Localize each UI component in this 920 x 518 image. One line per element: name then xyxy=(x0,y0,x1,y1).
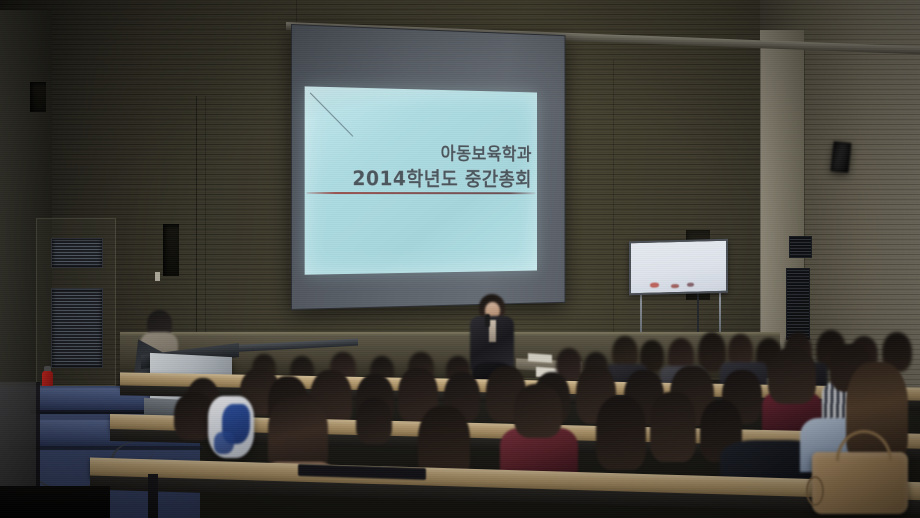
wall-switch-plate xyxy=(155,272,160,281)
wall-recess xyxy=(30,82,46,112)
paper-sheet xyxy=(528,353,552,363)
wall-seam xyxy=(805,206,920,207)
presenter-shirt xyxy=(489,320,496,342)
air-vent-icon xyxy=(786,268,810,340)
wall-seam xyxy=(120,266,300,267)
audience-head-foreground xyxy=(596,396,646,470)
backpack-blue-panel xyxy=(214,432,234,454)
microphone-icon xyxy=(485,314,490,327)
air-vent-icon xyxy=(51,288,103,368)
wall-seam xyxy=(120,186,300,187)
desk-divider xyxy=(148,474,158,518)
foreground-shadow xyxy=(0,486,110,518)
handbag-buckle xyxy=(806,476,824,506)
lecture-hall-photo: 아동보육학과 2014학년도 중간총회 xyxy=(0,0,920,518)
wall-seam xyxy=(620,120,770,121)
audience-head xyxy=(768,348,816,404)
audience-head-foreground xyxy=(650,392,696,462)
whiteboard-mark xyxy=(687,283,694,287)
whiteboard-mark xyxy=(671,284,679,288)
wall-seam xyxy=(613,60,614,360)
whiteboard-mark xyxy=(650,283,659,288)
wall-seam xyxy=(760,40,761,380)
wall-recess xyxy=(163,224,179,276)
air-vent-icon xyxy=(789,236,812,258)
whiteboard xyxy=(629,239,728,296)
audience-head xyxy=(356,398,392,444)
air-vent-icon xyxy=(51,238,103,268)
projection-screen: 아동보육학과 2014학년도 중간총회 xyxy=(291,24,565,310)
wall-seam xyxy=(805,148,920,149)
slide-title-line2: 2014학년도 중간총회 xyxy=(305,162,532,191)
projected-slide: 아동보육학과 2014학년도 중간총회 xyxy=(305,86,537,274)
wall-seam xyxy=(805,312,920,313)
wall-speaker-icon xyxy=(830,141,851,173)
handbag xyxy=(812,452,908,514)
slide-divider-rule xyxy=(307,192,536,194)
wall-seam xyxy=(805,258,920,259)
audience-head xyxy=(514,384,562,438)
